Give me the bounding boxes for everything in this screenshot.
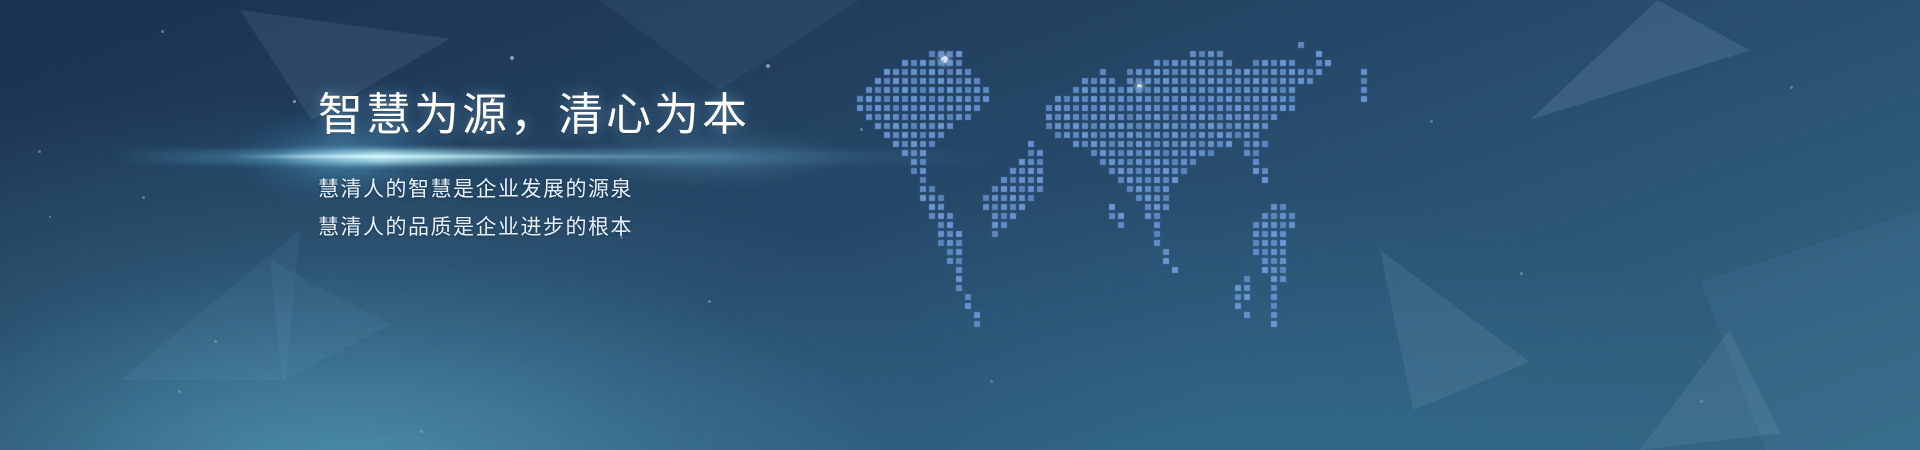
subtitle-line-1: 慧清人的智慧是企业发展的源泉	[318, 171, 938, 209]
page-title: 智慧为源，清心为本	[318, 88, 938, 141]
hero-banner: 智慧为源，清心为本 慧清人的智慧是企业发展的源泉 慧清人的品质是企业进步的根本	[0, 0, 1920, 450]
subtitle-group: 慧清人的智慧是企业发展的源泉 慧清人的品质是企业进步的根本	[318, 171, 938, 247]
hero-text-block: 智慧为源，清心为本 慧清人的智慧是企业发展的源泉 慧清人的品质是企业进步的根本	[318, 88, 938, 247]
subtitle-line-2: 慧清人的品质是企业进步的根本	[318, 209, 938, 247]
